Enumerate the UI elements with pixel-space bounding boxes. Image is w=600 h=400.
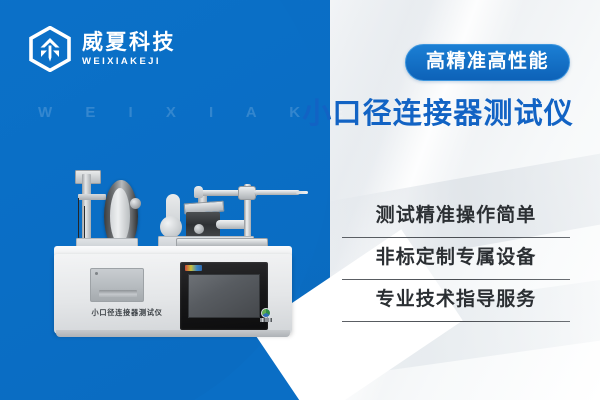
product-machine-illustration: 小口径连接器测试仪: [48, 168, 308, 368]
brand-name-en: WEIXIAKEJI: [82, 56, 176, 67]
machine-base: [56, 330, 290, 337]
brand-logo-text: 威夏科技 WEIXIAKEJI: [82, 31, 176, 67]
certification-emblem-icon: [261, 308, 271, 318]
certification-sticker: [260, 308, 272, 322]
feature-label: 专业技术指导服务: [340, 280, 572, 321]
brand-logo: 威夏科技 WEIXIAKEJI: [28, 26, 176, 72]
hmi-touchscreen: [180, 262, 268, 330]
machine-wheel-hub: [130, 198, 141, 209]
feature-item: 测试精准操作简单: [340, 196, 572, 238]
machine-clamp-handle: [194, 186, 203, 198]
machine-test-wheel-inner: [110, 188, 130, 244]
product-banner: W E I X I A K E J I 威夏科技 WEIXIAKEJI: [0, 0, 600, 400]
thermal-printer-module: [90, 268, 144, 302]
screen-display-area: [188, 274, 260, 318]
feature-divider: [342, 321, 570, 323]
certification-barcode-icon: [260, 318, 272, 322]
feature-list: 测试精准操作简单 非标定制专属设备 专业技术指导服务: [340, 196, 572, 322]
hero-badge: 高精准高性能: [405, 44, 570, 81]
brand-name-cn: 威夏科技: [82, 31, 176, 55]
machine-front-label: 小口径连接器测试仪: [72, 308, 182, 318]
machine-paddle-disc: [160, 216, 182, 238]
machine-fixture-dial: [194, 224, 204, 234]
printer-paper-slot: [99, 290, 137, 297]
feature-item: 专业技术指导服务: [340, 280, 572, 322]
printer-indicator: [95, 272, 98, 275]
hero-content: 高精准高性能 小口径连接器测试仪 测试精准操作简单 非标定制专属设备 专业技术指…: [278, 0, 578, 400]
screen-brand-logo-icon: [185, 265, 202, 271]
feature-item: 非标定制专属设备: [340, 238, 572, 280]
feature-label: 非标定制专属设备: [340, 238, 572, 279]
page-title: 小口径连接器测试仪: [302, 96, 574, 134]
feature-label: 测试精准操作简单: [340, 196, 572, 237]
hexagon-shield-logo-icon: [28, 26, 72, 72]
